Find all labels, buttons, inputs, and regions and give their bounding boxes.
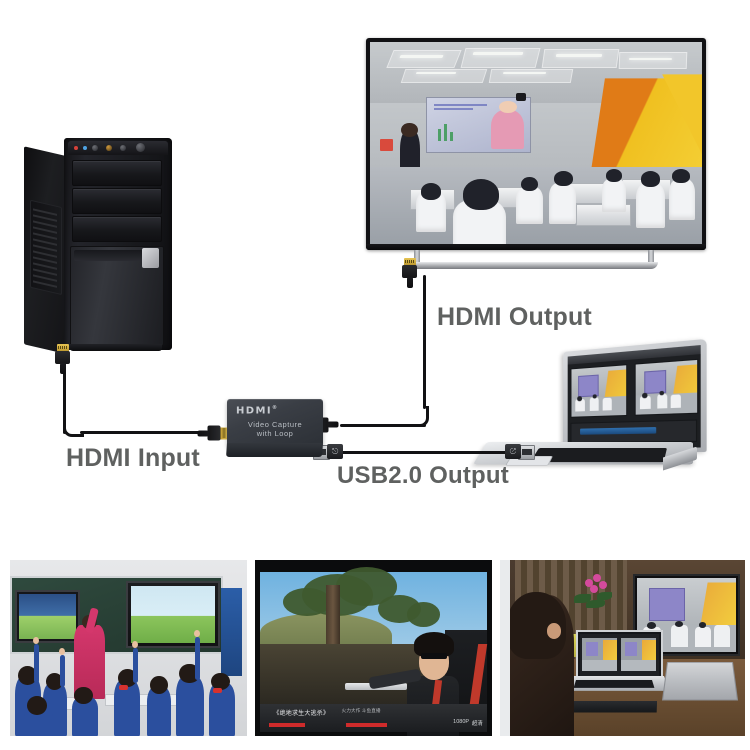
classroom-scene: [370, 42, 702, 244]
label-hdmi-input: HDMI Input: [66, 444, 200, 473]
tv-screen: [370, 42, 702, 244]
external-keyboard[interactable]: [566, 701, 657, 713]
gallery-photo-classroom: [10, 560, 247, 736]
pc-hdd-led: [83, 146, 87, 150]
pc-power-button[interactable]: [136, 143, 145, 152]
label-usb-output: USB2.0 Output: [337, 462, 509, 490]
laptop: [487, 352, 702, 490]
gallery-strip: 《绝地求生大逃杀》 火力大作 斗鱼直播 1080P 超清: [10, 560, 745, 736]
pc-drive-bay-3: [72, 216, 162, 242]
orchid-plant: [571, 567, 620, 620]
laptop-preview-pane-left: [570, 364, 627, 418]
laptop-preview-pane-right: [634, 359, 698, 416]
capture-device[interactable]: HDMI® Video Capture with Loop: [227, 399, 328, 461]
stream-quality: 1080P: [453, 719, 469, 725]
pc-power-led: [74, 146, 78, 150]
capture-device-brand: HDMI®: [236, 405, 278, 416]
cable-usb-horizontal: [340, 451, 515, 454]
laptop-lid: [563, 339, 707, 452]
label-hdmi-output: HDMI Output: [437, 303, 592, 332]
pc-brand-badge: [142, 248, 159, 268]
gallery-photo-gamestream: 《绝地求生大逃杀》 火力大作 斗鱼直播 1080P 超清: [255, 560, 492, 736]
hdmi-connector-device-input: [198, 426, 228, 441]
pc-audio-jack[interactable]: [106, 145, 112, 151]
usb-connector-laptop: ⎋: [505, 444, 535, 459]
gallery-photo-desksetup: [500, 560, 745, 736]
laptop-stand: [662, 662, 738, 700]
diagram-canvas: ⎋ ⎋ HDMI® Video Capture with Loop HDMI I…: [0, 0, 750, 750]
laptop-screen: [568, 345, 701, 448]
capture-device-base: [226, 443, 323, 457]
cable-hdmi-input-horizontal: [80, 431, 202, 434]
hdmi-connector-tv: [402, 258, 417, 288]
pc-tower: [24, 138, 172, 362]
stream-title: 《绝地求生大逃杀》: [273, 708, 329, 717]
stream-status: 超清: [472, 719, 483, 727]
pc-usb-port-1[interactable]: [92, 145, 98, 151]
desk-laptop-keyboard[interactable]: [574, 680, 655, 688]
laptop-timeline-clip: [580, 427, 656, 435]
capture-device-body: HDMI® Video Capture with Loop: [227, 399, 323, 447]
capture-device-label: Video Capture with Loop: [227, 420, 323, 438]
pc-drive-bay-1: [72, 160, 162, 186]
laptop-timeline: [570, 419, 698, 443]
tv-display: [366, 38, 706, 250]
stream-subtitle: 火力大作 斗鱼直播: [342, 708, 381, 714]
pc-drive-bay-2: [72, 188, 162, 214]
pc-side-panel: [24, 146, 66, 354]
tv-stand-base: [406, 262, 658, 269]
hdmi-connector-pc: [55, 344, 70, 374]
cable-hdmi-output-corner: [408, 406, 429, 427]
pc-reset-button[interactable]: [120, 145, 126, 151]
pc-base: [70, 344, 162, 351]
stream-info-bar: 《绝地求生大逃杀》 火力大作 斗鱼直播 1080P 超清: [260, 704, 488, 732]
cable-hdmi-output-vertical: [423, 275, 426, 409]
